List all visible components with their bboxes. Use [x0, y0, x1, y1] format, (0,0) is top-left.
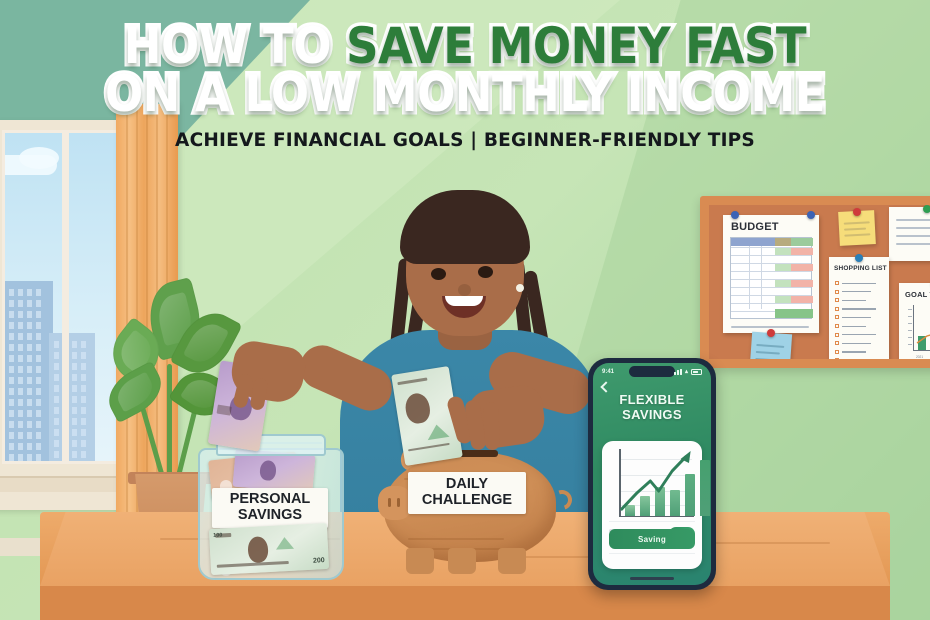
savings-chart: [610, 449, 694, 517]
building-window: [2, 443, 5, 450]
building-window: [81, 352, 86, 359]
building-window: [27, 322, 32, 329]
building-window: [81, 374, 86, 381]
building-window: [36, 355, 41, 362]
building-icon: [2, 281, 53, 461]
signal-icon: [674, 369, 682, 375]
goal-tracker-chart: 202120222023: [907, 305, 930, 359]
building-window: [9, 421, 14, 428]
saving-button[interactable]: Saving: [609, 529, 695, 549]
building-window: [72, 352, 77, 359]
building-window: [9, 322, 14, 329]
building-window: [18, 344, 23, 351]
building-window: [27, 377, 32, 384]
building-window: [2, 355, 5, 362]
building-window: [72, 407, 77, 414]
budget-cell-red: [791, 280, 813, 287]
checkbox-icon[interactable]: [835, 358, 839, 359]
goal-tracker-title: GOAL TR: [905, 290, 930, 299]
building-window: [9, 377, 14, 384]
jar-label-line1: PERSONAL: [230, 492, 311, 508]
budget-row: [731, 255, 811, 256]
building-window: [72, 363, 77, 370]
building-window: [2, 421, 5, 428]
building-window: [9, 333, 14, 340]
building-window: [72, 418, 77, 425]
budget-cell-red: [791, 264, 813, 271]
shopping-list-line: [842, 343, 871, 344]
nose: [458, 284, 471, 296]
building-window: [18, 311, 23, 318]
building-window: [81, 363, 86, 370]
shopping-list-line: [842, 334, 876, 335]
goal-trend-line: [907, 305, 930, 359]
budget-cell-green: [775, 264, 791, 271]
building-window: [72, 396, 77, 403]
building-window: [54, 396, 59, 403]
building-window: [27, 333, 32, 340]
building-window: [27, 432, 32, 439]
building-window: [72, 374, 77, 381]
building-window: [72, 429, 77, 436]
building-window: [27, 388, 32, 395]
building-icon: [49, 333, 95, 461]
pushpin-icon: [807, 211, 815, 219]
building-window: [54, 418, 59, 425]
phone-title-line2: SAVINGS: [593, 408, 711, 423]
building-window: [18, 355, 23, 362]
building-window: [54, 407, 59, 414]
building-window: [18, 289, 23, 296]
building-window: [2, 333, 5, 340]
teeth: [445, 296, 483, 306]
building-window: [18, 421, 23, 428]
building-window: [27, 355, 32, 362]
building-window: [36, 421, 41, 428]
building-window: [36, 366, 41, 373]
building-window: [72, 385, 77, 392]
piggy-leg: [406, 548, 434, 574]
building-window: [81, 440, 86, 447]
shopping-list-line: [842, 351, 866, 352]
status-time: 9:41: [602, 369, 614, 375]
building-window: [18, 410, 23, 417]
phone-status-bar: 9:41 ▴: [593, 365, 711, 378]
chart-bar: [700, 460, 710, 515]
budget-row: [731, 271, 811, 272]
building-window: [36, 322, 41, 329]
piggy-label-line2: CHALLENGE: [422, 493, 512, 509]
building-window: [54, 462, 59, 464]
budget-cell-red: [791, 248, 813, 255]
budget-title: BUDGET: [731, 221, 779, 233]
building-window: [81, 341, 86, 348]
checkbox-icon[interactable]: [835, 315, 839, 319]
building-window: [9, 443, 14, 450]
piggy-leg: [448, 548, 476, 574]
building-window: [36, 377, 41, 384]
building-window: [54, 341, 59, 348]
building-window: [18, 399, 23, 406]
plant-leaf: [100, 361, 170, 424]
pushpin-icon: [923, 205, 930, 213]
checkbox-icon[interactable]: [835, 290, 839, 294]
shopping-list-line: [842, 308, 876, 309]
building-window: [2, 399, 5, 406]
eye: [478, 266, 493, 278]
phone-title-line1: FLEXIBLE: [593, 393, 711, 408]
building-window: [27, 366, 32, 373]
building-window: [81, 385, 86, 392]
budget-cell-red: [791, 296, 813, 303]
savings-jar[interactable]: 200 100 PERSONAL SAVINGS: [190, 432, 352, 580]
budget-cell-green: [775, 280, 791, 287]
building-window: [54, 352, 59, 359]
shopping-list-line: [842, 291, 871, 292]
budget-row: [731, 303, 811, 304]
checkbox-icon[interactable]: [835, 307, 839, 311]
building-window: [36, 311, 41, 318]
building-window: [81, 451, 86, 458]
building-window: [27, 300, 32, 307]
phone-screen-title: FLEXIBLE SAVINGS: [593, 393, 711, 422]
checkbox-icon[interactable]: [835, 324, 839, 328]
window-mullion: [62, 130, 69, 464]
building-window: [72, 341, 77, 348]
building-window: [81, 396, 86, 403]
building-window: [9, 454, 14, 461]
building-window: [2, 311, 5, 318]
pushpin-icon: [731, 211, 739, 219]
building-window: [9, 399, 14, 406]
building-window: [2, 432, 5, 439]
building-window: [27, 454, 32, 461]
building-window: [2, 322, 5, 329]
chevron-left-icon[interactable]: [600, 381, 611, 392]
budget-footer-line: [731, 326, 809, 328]
jar-banknote: 200 100: [209, 523, 329, 575]
budget-column-divider: [749, 246, 750, 309]
building-window: [2, 388, 5, 395]
building-window: [54, 429, 59, 436]
building-window: [9, 410, 14, 417]
budget-row: [731, 287, 811, 288]
building-window: [27, 410, 32, 417]
building-window: [9, 289, 14, 296]
checkbox-icon[interactable]: [835, 341, 839, 345]
corkboard-surface: BUDGET: [709, 205, 930, 359]
building-window: [27, 311, 32, 318]
hair-top: [400, 190, 530, 264]
building-window: [81, 407, 86, 414]
building-window: [36, 289, 41, 296]
budget-column-divider: [761, 246, 762, 309]
checkbox-icon[interactable]: [835, 281, 839, 285]
building-window: [54, 385, 59, 392]
earring-icon: [516, 284, 524, 292]
building-window: [2, 454, 5, 461]
corkboard: BUDGET: [700, 196, 930, 368]
shopping-list-line: [842, 326, 866, 327]
building-window: [9, 355, 14, 362]
building-window: [9, 388, 14, 395]
building-window: [18, 333, 23, 340]
plant-stem: [167, 364, 172, 484]
checkbox-icon[interactable]: [835, 298, 839, 302]
building-window: [36, 443, 41, 450]
building-window: [72, 462, 77, 464]
building-window: [36, 388, 41, 395]
pushpin-icon: [853, 208, 861, 216]
building-window: [9, 300, 14, 307]
building-window: [72, 451, 77, 458]
poster-canvas: BUDGET: [0, 0, 930, 620]
piggy-label: DAILY CHALLENGE: [408, 472, 526, 514]
building-window: [18, 322, 23, 329]
jar-note-denomination: 200: [313, 557, 325, 565]
building-window: [27, 399, 32, 406]
building-window: [9, 344, 14, 351]
checkbox-icon[interactable]: [835, 333, 839, 337]
budget-cell-green: [775, 296, 791, 303]
building-window: [2, 289, 5, 296]
building-window: [54, 374, 59, 381]
building-window: [2, 300, 5, 307]
eye: [431, 268, 446, 280]
building-window: [72, 440, 77, 447]
building-window: [2, 366, 5, 373]
note-paper-right[interactable]: [889, 207, 930, 261]
building-window: [36, 344, 41, 351]
building-window: [54, 363, 59, 370]
budget-sheet[interactable]: BUDGET: [723, 215, 819, 333]
checkbox-icon[interactable]: [835, 350, 839, 354]
jar-label: PERSONAL SAVINGS: [212, 488, 328, 528]
building-window: [18, 366, 23, 373]
building-window: [2, 377, 5, 384]
building-window: [27, 421, 32, 428]
shopping-list-line: [842, 317, 871, 318]
building-window: [2, 410, 5, 417]
home-indicator: [630, 577, 674, 580]
piggy-label-line1: DAILY: [446, 477, 488, 493]
building-window: [36, 333, 41, 340]
building-window: [2, 344, 5, 351]
piggy-snout: [378, 486, 412, 520]
building-window: [18, 443, 23, 450]
building-window: [18, 300, 23, 307]
shopping-list-sheet[interactable]: SHOPPING LIST: [829, 257, 889, 359]
building-window: [18, 377, 23, 384]
wifi-icon: ▴: [685, 368, 688, 375]
shopping-list-line: [842, 283, 876, 284]
goal-tracker-sheet[interactable]: GOAL TR 202120222023: [899, 283, 930, 359]
building-window: [36, 399, 41, 406]
building-window: [9, 432, 14, 439]
building-window: [9, 311, 14, 318]
shopping-list-line: [842, 300, 866, 301]
building-window: [81, 418, 86, 425]
building-window: [36, 432, 41, 439]
building-window: [18, 388, 23, 395]
shopping-list-title: SHOPPING LIST: [834, 265, 887, 272]
cloud-icon: [19, 147, 59, 169]
battery-icon: [691, 369, 702, 375]
building-window: [27, 443, 32, 450]
budget-table: [730, 237, 812, 319]
building-window: [54, 451, 59, 458]
phone-screen: 9:41 ▴ FLEXIBLE SAVINGS: [593, 363, 711, 585]
building-window: [36, 454, 41, 461]
building-window: [9, 366, 14, 373]
finger: [483, 402, 500, 451]
piggy-leg: [498, 548, 526, 574]
building-window: [27, 289, 32, 296]
jar-label-line2: SAVINGS: [238, 508, 302, 524]
building-window: [18, 432, 23, 439]
pushpin-icon: [767, 329, 775, 337]
building-window: [81, 429, 86, 436]
phone-card: Saving: [602, 441, 702, 569]
desk-edge: [40, 586, 890, 620]
smartphone[interactable]: 9:41 ▴ FLEXIBLE SAVINGS: [588, 358, 716, 590]
pushpin-icon: [855, 254, 863, 262]
building-window: [81, 462, 86, 464]
building-window: [18, 454, 23, 461]
building-window: [54, 440, 59, 447]
building-window: [27, 344, 32, 351]
chart-trend-arrow: [610, 449, 694, 517]
budget-cell-green: [775, 248, 791, 255]
building-window: [36, 410, 41, 417]
building-window: [36, 300, 41, 307]
